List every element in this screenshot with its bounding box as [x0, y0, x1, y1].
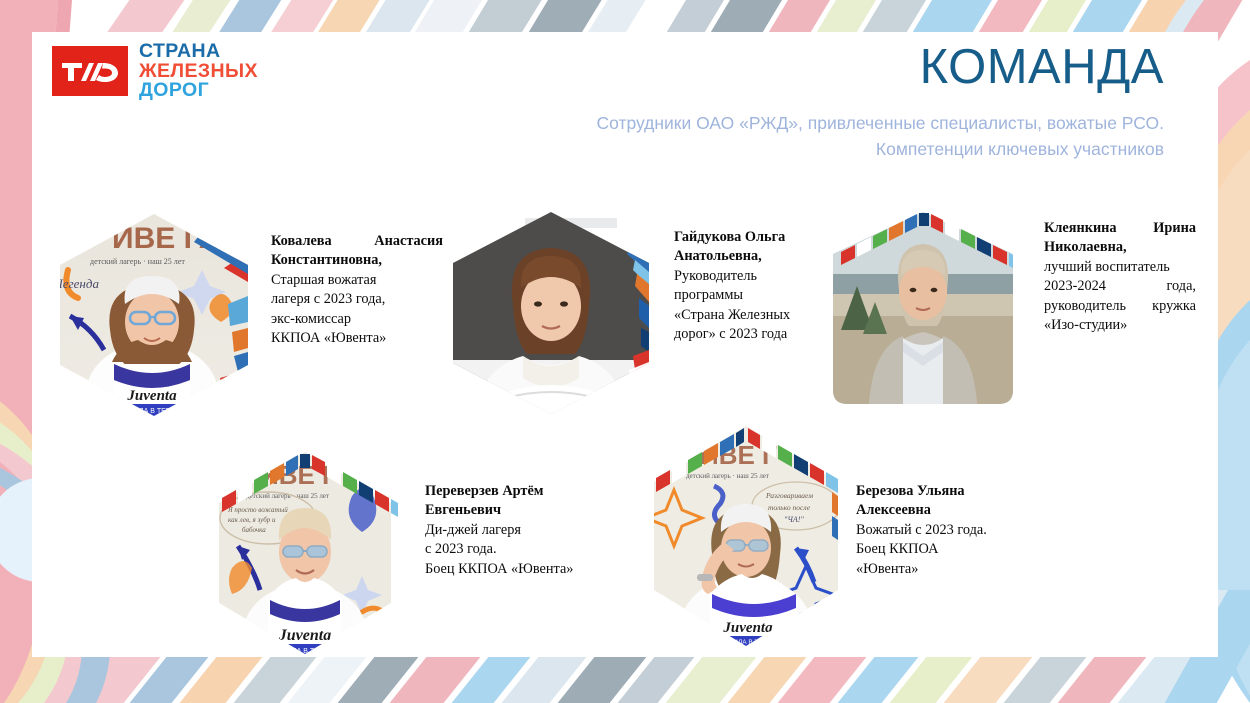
- logo-word-line3: ДОРОГ: [139, 81, 258, 101]
- person-name: Березова Ульяна: [856, 482, 1006, 501]
- person-detail-1: Вожатый с 2023 года.: [856, 521, 1006, 540]
- rzd-logo: СТРАНА ЖЕЛЕЗНЫХ ДОРОГ: [52, 42, 258, 101]
- logo-word-line1: СТРАНА: [139, 42, 258, 62]
- svg-text:детский лагерь · наш 25 лет: детский лагерь · наш 25 лет: [686, 472, 769, 480]
- person-detail-3: «Ювента»: [856, 560, 1006, 579]
- svg-text:Разговариваем: Разговариваем: [765, 491, 813, 500]
- rzd-logo-mark: [52, 46, 128, 96]
- person-card-berezova: ИВЕ Г детский лагерь · наш 25 лет Разгов…: [0, 0, 1250, 703]
- page-subtitle: Сотрудники ОАО «РЖД», привлеченные специ…: [504, 110, 1164, 163]
- photo-berezova: ИВЕ Г детский лагерь · наш 25 лет Разгов…: [648, 424, 844, 648]
- page-title: КОМАНДА: [920, 42, 1164, 93]
- rzd-logo-wordmark: СТРАНА ЖЕЛЕЗНЫХ ДОРОГ: [139, 42, 258, 101]
- page-subtitle-line1: Сотрудники ОАО «РЖД», привлеченные специ…: [504, 110, 1164, 136]
- svg-text:только после: только после: [768, 503, 811, 512]
- svg-text:СИЛА В ТЕБЕ: СИЛА В ТЕБЕ: [729, 639, 772, 646]
- svg-text:"ЧА!": "ЧА!": [784, 515, 804, 524]
- bio-berezova: Березова Ульяна Алексеевна Вожатый с 202…: [856, 482, 1006, 579]
- slide-root: СТРАНА ЖЕЛЕЗНЫХ ДОРОГ КОМАНДА Сотрудники…: [0, 0, 1250, 703]
- svg-text:Juventa: Juventa: [722, 620, 773, 636]
- page-subtitle-line2: Компетенции ключевых участников: [504, 136, 1164, 162]
- person-detail-2: Боец ККПОА: [856, 540, 1006, 559]
- person-name-cont: Алексеевна: [856, 501, 1006, 520]
